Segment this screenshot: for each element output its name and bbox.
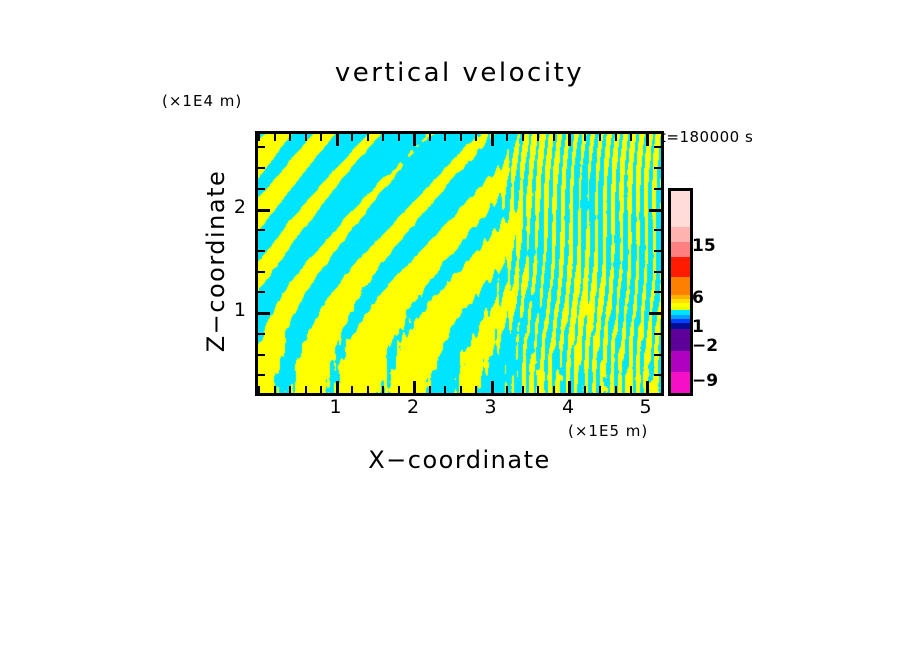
y-tick-minor xyxy=(258,250,265,252)
x-tick-top-minor xyxy=(599,134,601,141)
x-tick-top-minor xyxy=(522,134,524,141)
x-tick-label: 5 xyxy=(626,396,666,418)
x-tick-minor xyxy=(522,386,524,393)
colorbar-label: −2 xyxy=(692,336,718,356)
x-tick-minor xyxy=(506,386,508,393)
x-tick-major xyxy=(413,381,416,393)
x-tick-minor xyxy=(537,386,539,393)
x-tick-top-minor xyxy=(382,134,384,141)
y-tick-right-minor xyxy=(654,229,661,231)
y-tick-major xyxy=(258,312,270,315)
x-tick-minor xyxy=(615,386,617,393)
x-tick-top-minor xyxy=(320,134,322,141)
colorbar-band-13 xyxy=(671,329,690,350)
colorbar-band-1 xyxy=(671,227,690,242)
x-tick-top-major xyxy=(336,134,339,146)
colorbar-band-0 xyxy=(671,191,690,227)
page-title: vertical velocity xyxy=(0,58,904,88)
x-tick-top-minor xyxy=(537,134,539,141)
x-axis-unit-label: (×1E5 m) xyxy=(568,422,648,440)
x-tick-minor xyxy=(274,386,276,393)
y-axis-title: Z−coordinate xyxy=(198,130,234,392)
x-tick-minor xyxy=(429,386,431,393)
colorbar-band-4 xyxy=(671,277,690,295)
y-tick-right-minor xyxy=(654,271,661,273)
y-tick-right-minor xyxy=(654,291,661,293)
colorbar-band-15 xyxy=(671,372,690,393)
colorbar-label: −9 xyxy=(692,371,718,391)
y-tick-minor xyxy=(258,374,265,376)
x-tick-top-minor xyxy=(274,134,276,141)
x-tick-minor xyxy=(382,386,384,393)
colorbar-label: 15 xyxy=(692,236,716,256)
x-tick-minor xyxy=(460,386,462,393)
colorbar-band-2 xyxy=(671,242,690,257)
y-tick-right-major xyxy=(649,312,661,315)
colorbar-label: 6 xyxy=(692,288,704,308)
x-tick-label: 1 xyxy=(316,396,356,418)
x-tick-top-minor xyxy=(553,134,555,141)
x-tick-major xyxy=(491,381,494,393)
x-axis-title-text: X−coordinate xyxy=(368,446,551,474)
y-tick-minor xyxy=(258,167,265,169)
y-tick-right-minor xyxy=(654,333,661,335)
x-tick-top-minor xyxy=(289,134,291,141)
x-tick-top-major xyxy=(413,134,416,146)
x-tick-top-minor xyxy=(615,134,617,141)
y-tick-right-minor xyxy=(654,354,661,356)
y-tick-minor xyxy=(258,146,265,148)
colorbar-band-14 xyxy=(671,351,690,372)
y-axis-title-text: Z−coordinate xyxy=(202,170,230,353)
x-tick-minor xyxy=(367,386,369,393)
x-tick-minor xyxy=(258,386,260,393)
y-tick-right-minor xyxy=(654,167,661,169)
x-tick-top-minor xyxy=(584,134,586,141)
x-tick-top-minor xyxy=(367,134,369,141)
x-tick-top-minor xyxy=(398,134,400,141)
y-tick-right-minor xyxy=(654,146,661,148)
colorbar xyxy=(668,188,693,396)
x-tick-minor xyxy=(475,386,477,393)
x-axis-title: X−coordinate xyxy=(0,446,904,474)
y-tick-right-minor xyxy=(654,188,661,190)
x-tick-minor xyxy=(599,386,601,393)
x-tick-top-major xyxy=(491,134,494,146)
colorbar-band-3 xyxy=(671,257,690,277)
x-tick-top-major xyxy=(568,134,571,146)
x-tick-top-minor xyxy=(444,134,446,141)
y-tick-minor xyxy=(258,354,265,356)
x-tick-label: 2 xyxy=(393,396,433,418)
y-tick-minor xyxy=(258,291,265,293)
y-tick-minor xyxy=(258,188,265,190)
x-tick-top-minor xyxy=(630,134,632,141)
x-tick-top-minor xyxy=(305,134,307,141)
x-tick-minor xyxy=(553,386,555,393)
x-tick-label: 3 xyxy=(471,396,511,418)
x-tick-top-minor xyxy=(258,134,260,141)
x-tick-major xyxy=(568,381,571,393)
colorbar-label: 1 xyxy=(692,317,704,337)
y-tick-minor xyxy=(258,333,265,335)
x-tick-minor xyxy=(320,386,322,393)
x-tick-top-minor xyxy=(460,134,462,141)
x-tick-minor xyxy=(444,386,446,393)
x-tick-minor xyxy=(630,386,632,393)
y-tick-major xyxy=(258,209,270,212)
x-tick-top-minor xyxy=(351,134,353,141)
plot-area xyxy=(255,131,664,396)
x-tick-major xyxy=(646,381,649,393)
y-tick-minor xyxy=(258,229,265,231)
vertical-velocity-field xyxy=(258,134,661,393)
y-tick-right-minor xyxy=(654,374,661,376)
y-tick-right-major xyxy=(649,209,661,212)
chart-title-text: vertical velocity xyxy=(335,58,584,88)
x-tick-label: 4 xyxy=(548,396,588,418)
y-axis-unit-label: (×1E4 m) xyxy=(162,92,242,110)
y-tick-minor xyxy=(258,271,265,273)
x-tick-top-major xyxy=(646,134,649,146)
x-tick-top-minor xyxy=(475,134,477,141)
time-annotation: t=180000 s xyxy=(660,128,753,146)
y-tick-right-minor xyxy=(654,250,661,252)
x-tick-top-minor xyxy=(429,134,431,141)
x-tick-major xyxy=(336,381,339,393)
x-tick-minor xyxy=(351,386,353,393)
x-tick-minor xyxy=(289,386,291,393)
x-tick-minor xyxy=(398,386,400,393)
x-tick-minor xyxy=(584,386,586,393)
x-tick-top-minor xyxy=(506,134,508,141)
x-tick-minor xyxy=(305,386,307,393)
